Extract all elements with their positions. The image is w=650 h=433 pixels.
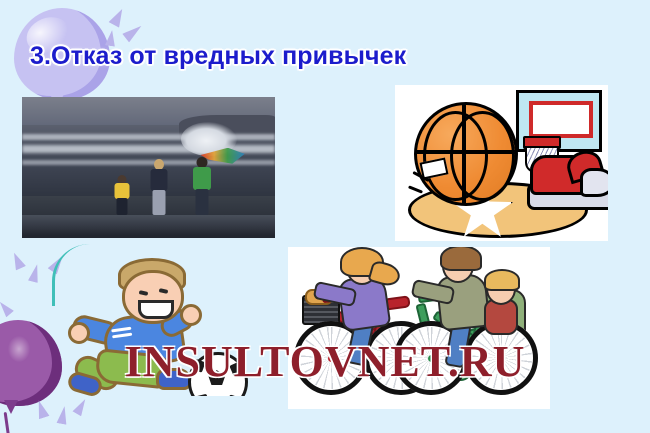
- photo-child-figure: [113, 175, 131, 215]
- photo-surf-line: [22, 134, 275, 140]
- boy-front-shoe: [156, 368, 192, 390]
- page-title: 3.Отказ от вредных привычек: [30, 42, 406, 71]
- photo-adult-figure: [149, 159, 169, 215]
- spark-ray-icon: [9, 250, 26, 270]
- backboard-square: [529, 101, 593, 138]
- boy-mouth: [138, 300, 174, 319]
- slide-canvas: 3.Отказ от вредных привычек: [0, 0, 650, 433]
- spark-ray-icon: [108, 6, 127, 28]
- boy-right-hand: [180, 304, 202, 326]
- balloon-highlight: [8, 336, 30, 362]
- photo-adult-figure: [192, 157, 212, 215]
- rider-hair: [440, 247, 482, 271]
- running-boy-clipart: [68, 256, 258, 396]
- boy-left-hand: [68, 322, 90, 344]
- basketball: [414, 102, 518, 206]
- ball-panel: [191, 359, 206, 373]
- motion-line: [408, 185, 423, 193]
- beach-family-photo: [22, 97, 275, 238]
- ball-panel: [208, 370, 225, 385]
- ball-seam: [450, 111, 515, 201]
- red-sneaker: [527, 152, 608, 210]
- spark-ray-icon: [57, 405, 70, 424]
- basketball-clipart: [395, 85, 608, 241]
- spark-ray-icon: [0, 299, 14, 318]
- spark-ray-icon: [28, 263, 42, 283]
- sneaker-toe: [580, 168, 608, 197]
- ball-panel: [226, 394, 241, 396]
- balloon-purple-icon: [0, 320, 62, 406]
- child-hair: [484, 269, 520, 291]
- spark-ray-icon: [72, 397, 89, 417]
- family-cycling-clipart: [288, 247, 550, 409]
- ball-panel: [195, 393, 209, 396]
- balloon-string: [4, 412, 12, 433]
- photo-reflection: [22, 215, 275, 235]
- soccer-ball: [188, 352, 248, 396]
- spark-ray-icon: [122, 22, 145, 43]
- ball-panel: [229, 361, 244, 376]
